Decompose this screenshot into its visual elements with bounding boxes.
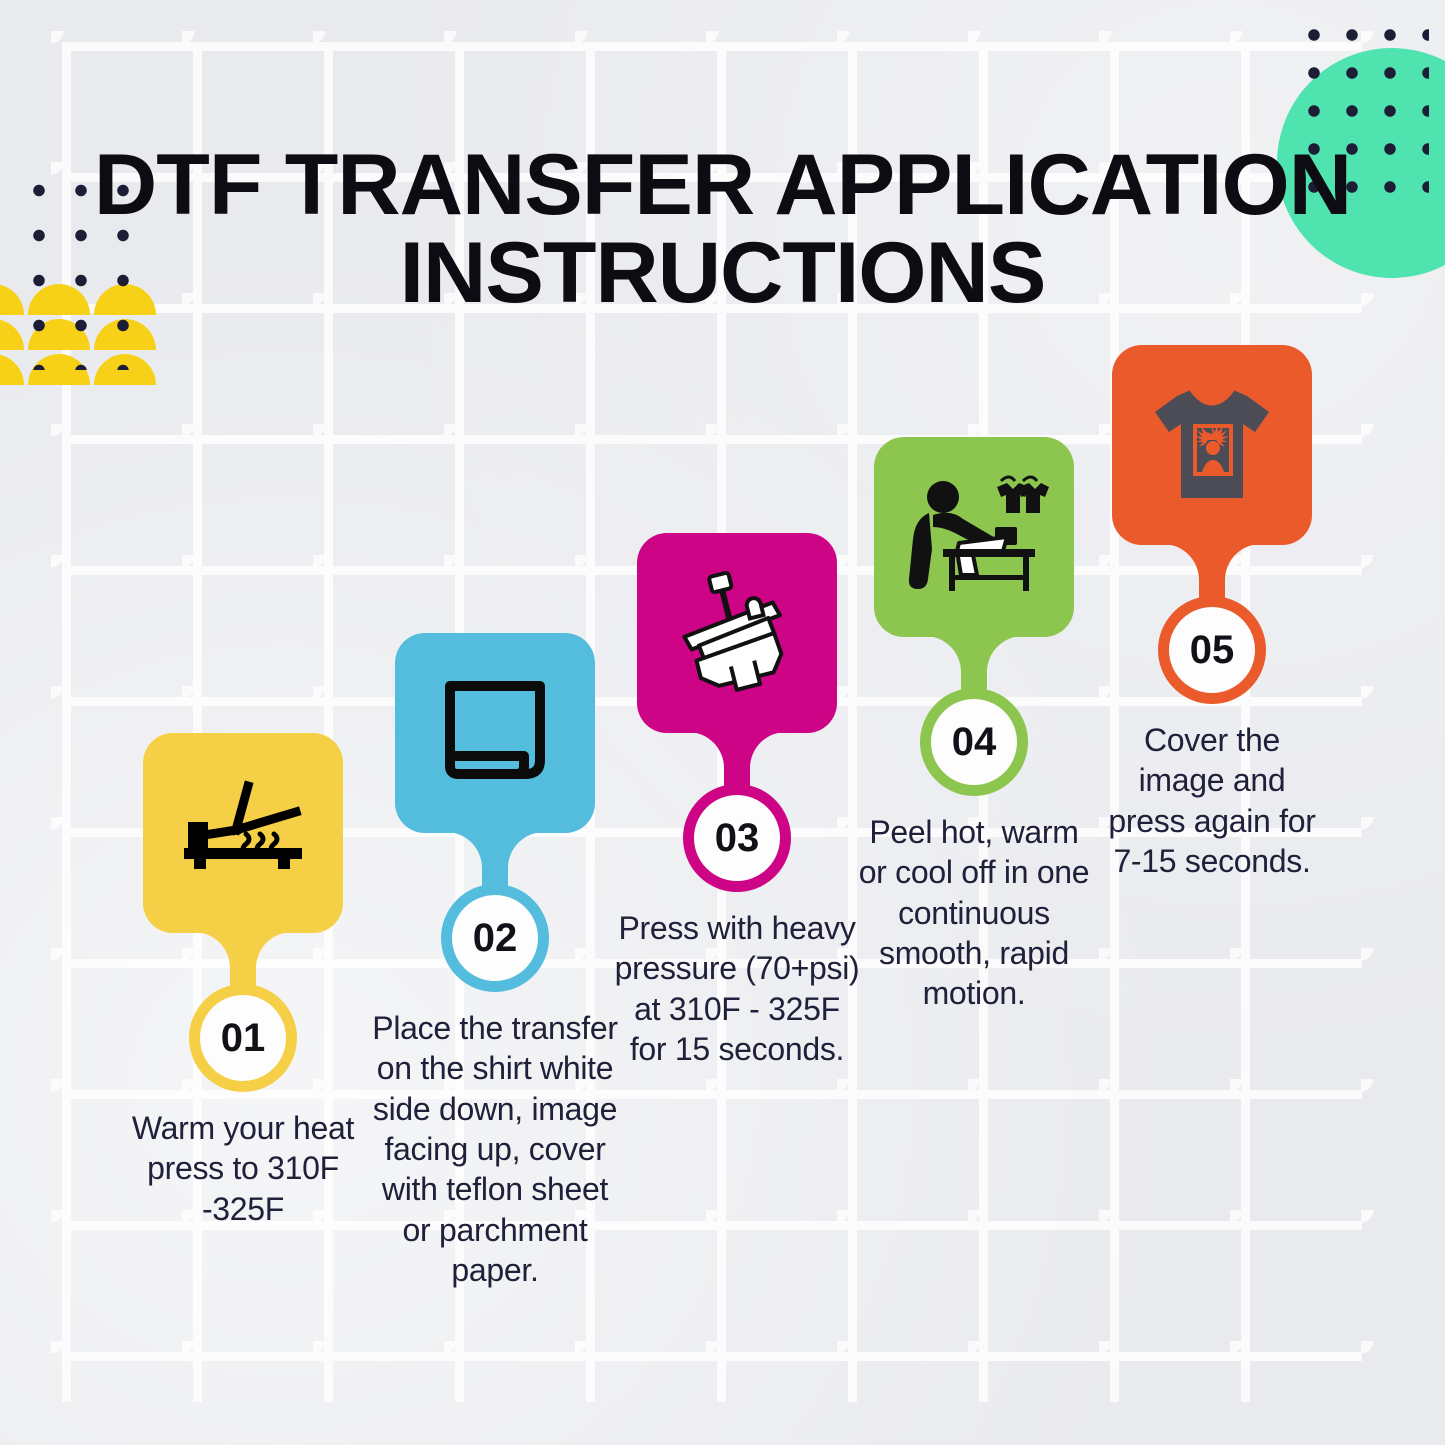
step-03-fillet-left: [688, 732, 724, 768]
step-03-number-badge[interactable]: 03: [683, 784, 791, 892]
step-03-fillet-right: [750, 732, 786, 768]
step-05-card[interactable]: [1112, 345, 1312, 545]
step-05-number: 05: [1190, 628, 1235, 673]
step-02-card[interactable]: [395, 633, 595, 833]
step-02-description: Place the transfer on the shirt white si…: [371, 1008, 619, 1290]
step-01-number: 01: [221, 1016, 266, 1061]
step-04-card[interactable]: [874, 437, 1074, 637]
step-03-number: 03: [715, 816, 760, 861]
dot-grid-top-left-decoration: [10, 158, 134, 370]
printed-tshirt-icon: [1147, 380, 1277, 510]
step-04-number: 04: [952, 720, 997, 765]
page-title-line-1: DTF TRANSFER APPLICATION: [0, 142, 1445, 230]
step-05-fillet-right: [1225, 544, 1261, 580]
step-04-fillet-right: [987, 636, 1023, 672]
step-04-fillet-left: [925, 636, 961, 672]
step-02-fillet-right: [508, 832, 544, 868]
step-02-fillet-left: [446, 832, 482, 868]
step-05-description: Cover the image and press again for 7-15…: [1098, 720, 1326, 881]
person-peeling-transfer-icon: [899, 471, 1049, 603]
step-03[interactable]: 03 Press with heavy pressure (70+psi) at…: [612, 533, 862, 1069]
heat-press-machine-icon: [667, 568, 807, 698]
step-02-number-badge[interactable]: 02: [441, 884, 549, 992]
heat-press-open-icon: [178, 778, 308, 888]
infographic-canvas: DTF TRANSFER APPLICATION INSTRUCTIONS: [0, 0, 1445, 1445]
step-01-number-badge[interactable]: 01: [189, 984, 297, 1092]
step-03-description: Press with heavy pressure (70+psi) at 31…: [612, 908, 862, 1069]
step-04[interactable]: 04 Peel hot, warm or cool off in one con…: [858, 437, 1090, 1014]
step-01-description: Warm your heat press to 310F -325F: [130, 1108, 356, 1229]
step-02[interactable]: 02 Place the transfer on the shirt white…: [371, 633, 619, 1290]
page-title-line-2: INSTRUCTIONS: [0, 230, 1445, 318]
step-05-number-badge[interactable]: 05: [1158, 596, 1266, 704]
step-01-fillet-left: [194, 932, 230, 968]
step-04-description: Peel hot, warm or cool off in one contin…: [858, 812, 1090, 1014]
transfer-sheet-icon: [436, 674, 554, 792]
step-05[interactable]: 05 Cover the image and press again for 7…: [1098, 345, 1326, 881]
step-01-card[interactable]: [143, 733, 343, 933]
step-01[interactable]: 01 Warm your heat press to 310F -325F: [130, 733, 356, 1229]
step-01-fillet-right: [256, 932, 292, 968]
step-05-fillet-left: [1163, 544, 1199, 580]
step-03-card[interactable]: [637, 533, 837, 733]
step-04-number-badge[interactable]: 04: [920, 688, 1028, 796]
page-title: DTF TRANSFER APPLICATION INSTRUCTIONS: [0, 142, 1445, 317]
step-02-number: 02: [473, 916, 518, 961]
